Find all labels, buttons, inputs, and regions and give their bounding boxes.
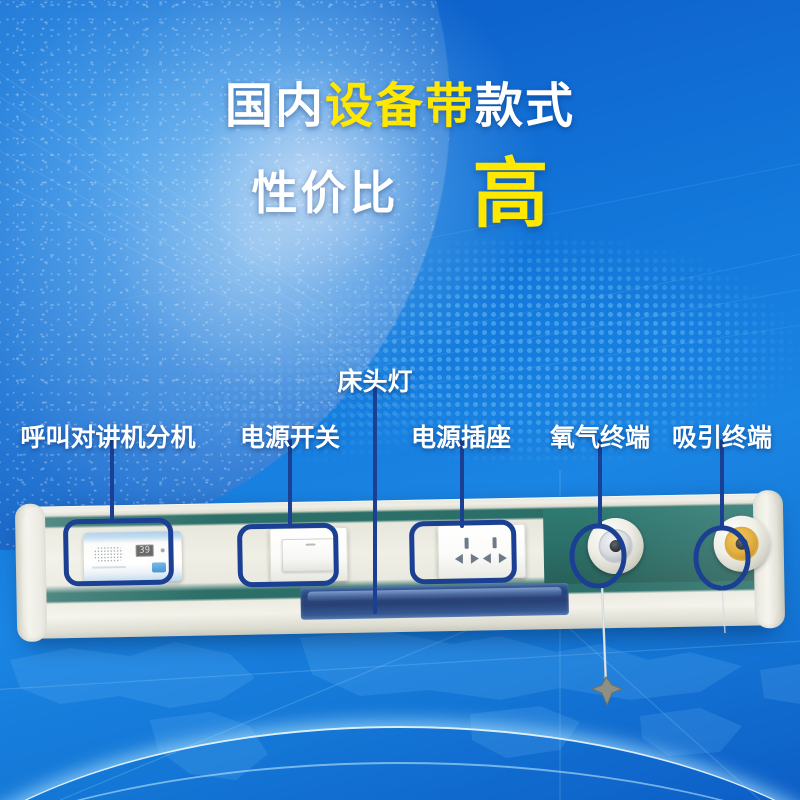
callout-suction-terminal: 吸引终端 (672, 418, 772, 454)
callout-power-socket: 电源插座 (411, 418, 511, 454)
product-banner: 国内设备带款式 性价比 高 呼叫对讲机分机 电源开关 床头灯 电源插座 (0, 0, 800, 800)
callout-oxygen-terminal: 氧气终端 (550, 418, 650, 454)
callout-bed-lamp: 床头灯 (337, 362, 412, 398)
callout-intercom: 呼叫对讲机分机 (20, 418, 195, 454)
callout-power-switch: 电源开关 (240, 418, 340, 454)
callout-labels: 呼叫对讲机分机 电源开关 床头灯 电源插座 氧气终端 吸引终端 (0, 0, 800, 800)
